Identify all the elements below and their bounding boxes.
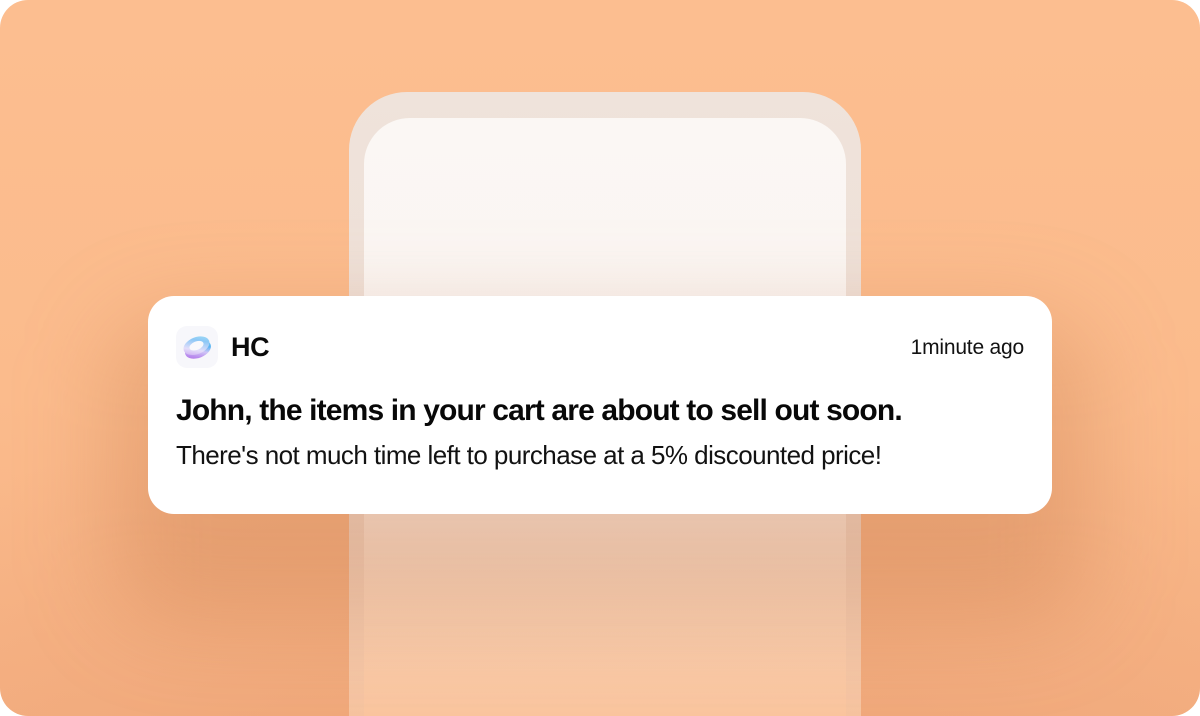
preview-canvas: HC 1minute ago John, the items in your c… [0, 0, 1200, 716]
app-name-label: HC [231, 334, 269, 361]
notification-card[interactable]: HC 1minute ago John, the items in your c… [148, 296, 1052, 514]
notification-header: HC 1minute ago [176, 326, 1024, 368]
ring-torus-gradient-icon [176, 326, 218, 368]
notification-body: There's not much time left to purchase a… [176, 440, 1024, 471]
notification-title: John, the items in your cart are about t… [176, 394, 1024, 429]
notification-timestamp: 1minute ago [911, 337, 1024, 358]
notification-brand: HC [176, 326, 269, 368]
